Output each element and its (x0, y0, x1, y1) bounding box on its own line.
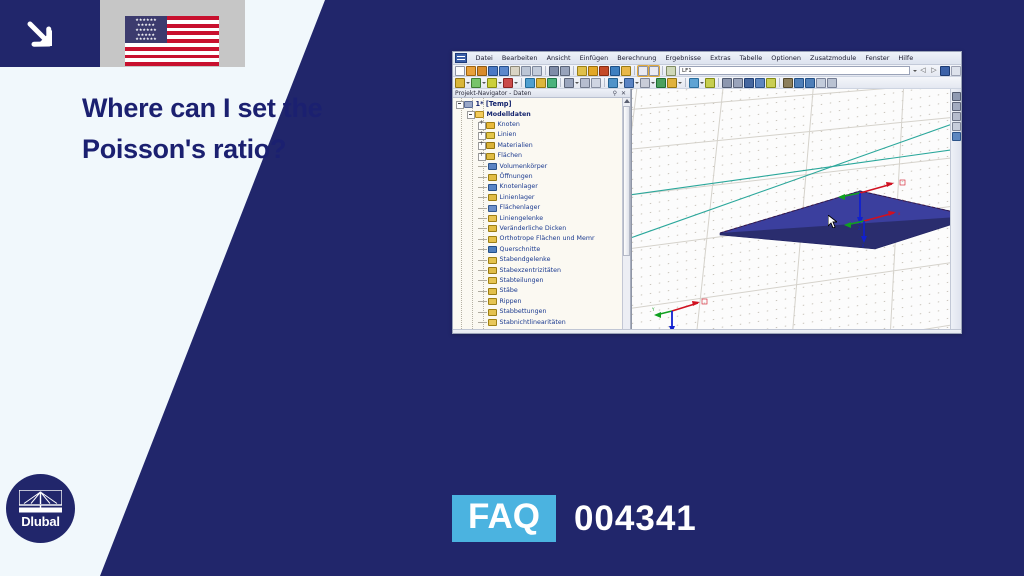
tree-connector (478, 218, 487, 219)
navigator-tree-item[interactable]: Stabexzentrizitäten (453, 265, 630, 275)
line-support-icon (488, 194, 497, 201)
save-icon[interactable] (499, 66, 509, 76)
navigator-tree-item[interactable]: Orthotrope Flächen und Memr (453, 234, 630, 244)
render-mode-icon[interactable] (722, 78, 732, 88)
chevron-down-icon[interactable] (678, 78, 682, 87)
chevron-down-icon[interactable] (514, 78, 518, 87)
navigator-tree-item[interactable]: Veränderliche Dicken (453, 224, 630, 234)
toolbar-separator (634, 66, 635, 75)
member-division-icon (488, 277, 497, 284)
view-top-icon[interactable] (952, 112, 961, 121)
navigator-tree-item[interactable]: Flächen (453, 151, 630, 161)
status-bar (453, 329, 961, 334)
navigator-tree-item-label: Volumenkörper (500, 162, 548, 172)
tree-connector (478, 197, 487, 198)
render-icon[interactable] (610, 66, 620, 76)
arrow-down-right-icon (24, 18, 58, 52)
faq-badge: FAQ 004341 (452, 495, 697, 542)
menu-bar: Datei Bearbeiten Ansicht Einfügen Berech… (453, 52, 961, 65)
navigator-tree-item[interactable]: Querschnitte (453, 245, 630, 255)
toolbar-separator (545, 66, 546, 75)
window-cascade-icon[interactable] (827, 78, 837, 88)
navigator-tree-item-label: Rippen (500, 297, 522, 307)
navigator-tree-item-label: Flächenlager (500, 203, 541, 213)
surface-table-icon (486, 153, 495, 160)
line-table-icon (486, 132, 495, 139)
navigator-tree-item[interactable]: Knoten (453, 120, 630, 130)
language-flag-block[interactable]: ★★★★★★ ★★★★★ ★★★★★★ ★★★★★ ★★★★★★ (100, 0, 245, 67)
navigator-tree-item[interactable]: Öffnungen (453, 172, 630, 182)
page-title-line-1: Where can I set the (82, 88, 412, 129)
toolbar-separator (521, 78, 522, 87)
tree-connector (478, 260, 487, 261)
print-preview-icon[interactable] (521, 66, 531, 76)
toolbar-separator (573, 66, 574, 75)
navigator-tree-item-label: Linien (498, 130, 517, 140)
navigator-tree-item[interactable]: Materialien (453, 141, 630, 151)
window-split-icon[interactable] (649, 66, 659, 76)
scroll-up-arrow-icon[interactable] (624, 99, 630, 103)
line-hinge-icon (488, 215, 497, 222)
toolbar-separator (779, 78, 780, 87)
new-document-icon[interactable] (455, 66, 465, 76)
menu-item-ansicht[interactable]: Ansicht (542, 54, 575, 62)
navigator-tree-item-label: Stabexzentrizitäten (500, 266, 562, 276)
navigator-tree-item-label: Orthotrope Flächen und Memr (500, 234, 595, 244)
navigator-tree-item-label: Querschnitte (500, 245, 541, 255)
tree-connector (478, 280, 487, 281)
toolbar-separator (718, 78, 719, 87)
page-title: Where can I set the Poisson's ratio? (82, 88, 412, 170)
tree-connector (478, 249, 487, 250)
tree-connector (478, 177, 487, 178)
navigator-tree-item-label: Materialien (498, 141, 533, 151)
nodal-load-icon[interactable] (564, 78, 574, 88)
tree-connector (478, 187, 487, 188)
node-icon[interactable] (455, 78, 465, 88)
support-icon[interactable] (525, 78, 535, 88)
print-detail-icon[interactable] (532, 66, 542, 76)
chevron-down-icon[interactable] (575, 78, 579, 87)
toolbar-separator (685, 78, 686, 87)
us-flag-icon: ★★★★★★ ★★★★★ ★★★★★★ ★★★★★ ★★★★★★ (125, 16, 219, 66)
table-view-icon[interactable] (638, 66, 648, 76)
corner-accent-block (0, 0, 100, 67)
navigator-tree-item-label: Knotenlager (500, 182, 538, 192)
faq-number: 004341 (574, 500, 697, 538)
expand-plus-icon[interactable] (478, 153, 485, 160)
tree-connector (478, 239, 487, 240)
navigator-tree-item[interactable]: Linienlager (453, 193, 630, 203)
pan-icon[interactable] (755, 78, 765, 88)
calculate-icon[interactable] (640, 78, 650, 88)
zoom-out-view-icon[interactable] (805, 78, 815, 88)
tree-connector (478, 228, 487, 229)
navigator-tree-item[interactable]: Knotenlager (453, 182, 630, 192)
zoom-out-icon[interactable] (744, 78, 754, 88)
nodal-support-icon (488, 184, 497, 191)
truss-bridge-icon (19, 490, 62, 514)
cross-section-icon (488, 246, 497, 253)
zoom-fit-icon[interactable] (599, 66, 609, 76)
filter-icon[interactable] (705, 78, 715, 88)
menu-item-zusatzmodule[interactable]: Zusatzmodule (806, 54, 861, 62)
navigator-tree-item[interactable]: Rippen (453, 297, 630, 307)
svg-text:z: z (862, 243, 864, 248)
opening-table-icon (488, 174, 497, 181)
menu-item-fenster[interactable]: Fenster (861, 54, 894, 62)
chevron-down-icon[interactable] (466, 78, 470, 87)
print-results-icon[interactable] (940, 66, 950, 76)
print-setup-icon[interactable] (488, 66, 498, 76)
menu-item-berechnung[interactable]: Berechnung (613, 54, 661, 62)
navigator-tree-item-label: Stabnichtlinearitäten (500, 318, 566, 328)
work-area: Projekt-Navigator - Daten ⚲ ✕ 1* [Temp]M… (453, 89, 961, 334)
chevron-down-icon[interactable] (482, 78, 486, 87)
project-icon (464, 101, 473, 108)
collapse-minus-icon[interactable] (456, 101, 463, 108)
help-pointer-icon[interactable] (951, 66, 961, 76)
navigator-tree-item-label: Liniengelenke (500, 214, 544, 224)
measure-icon[interactable] (577, 66, 587, 76)
navigator-tree-item[interactable]: Stabendgelenke (453, 255, 630, 265)
navigator-title: Projekt-Navigator - Daten (455, 90, 611, 97)
expand-plus-icon[interactable] (478, 142, 485, 149)
toolbar-separator (560, 78, 561, 87)
tree-connector (478, 166, 487, 167)
print-icon[interactable] (510, 66, 520, 76)
undo-icon[interactable] (549, 66, 559, 76)
zoom-all-icon[interactable] (952, 132, 961, 141)
member-nonlinearity-icon (488, 319, 497, 326)
navigator-tree-item-label: Stabendgelenke (500, 255, 551, 265)
navigator-tree-item-label: Linienlager (500, 193, 535, 203)
menu-item-tabelle[interactable]: Tabelle (735, 54, 767, 62)
navigator-tree-item-label: Stabbettungen (500, 307, 547, 317)
free-load-icon[interactable] (608, 78, 618, 88)
chevron-down-icon[interactable] (913, 66, 917, 75)
view-front-icon[interactable] (952, 102, 961, 111)
load-case-icon[interactable] (666, 66, 676, 76)
material-table-icon (486, 142, 495, 149)
menu-item-bearbeiten[interactable]: Bearbeiten (497, 54, 542, 62)
dlubal-logo[interactable]: Dlubal (6, 474, 75, 543)
page-title-line-2: Poisson's ratio? (82, 129, 412, 170)
faq-tag-label: FAQ (452, 495, 556, 542)
chevron-down-icon[interactable] (619, 78, 623, 87)
logo-text: Dlubal (6, 514, 75, 529)
tree-connector (478, 208, 487, 209)
chevron-down-icon[interactable] (651, 78, 655, 87)
mouse-pointer-icon (828, 215, 837, 228)
expand-plus-icon[interactable] (478, 122, 485, 129)
result-icon[interactable] (656, 78, 666, 88)
navigator-tree-item[interactable]: 1* [Temp] (453, 99, 630, 109)
navigator-tree-item-label: Modelldaten (487, 110, 531, 120)
deformation-icon[interactable] (667, 78, 677, 88)
navigator-tree-item-label: 1* [Temp] (476, 99, 512, 109)
slide: ★★★★★★ ★★★★★ ★★★★★★ ★★★★★ ★★★★★★ Where c… (0, 0, 1024, 576)
select-icon[interactable] (783, 78, 793, 88)
line-load-icon[interactable] (580, 78, 590, 88)
menu-item-hilfe[interactable]: Hilfe (894, 54, 918, 62)
toolbar-separator (604, 78, 605, 87)
expand-plus-icon[interactable] (478, 132, 485, 139)
tree-connector (478, 291, 487, 292)
scrollbar-thumb[interactable] (623, 106, 630, 256)
solid-icon[interactable] (536, 78, 546, 88)
navigator-tree-item[interactable]: Modelldaten (453, 110, 630, 120)
close-icon[interactable]: ✕ (619, 90, 628, 97)
menu-item-einfuegen[interactable]: Einfügen (575, 54, 613, 62)
section-icon[interactable] (689, 78, 699, 88)
next-arrow-icon[interactable]: ▷ (929, 66, 939, 76)
solid-table-icon (488, 163, 497, 170)
chevron-down-icon[interactable] (635, 78, 639, 87)
navigator-tree[interactable]: 1* [Temp]ModelldatenKnotenLinienMaterial… (453, 98, 630, 334)
folder-open-icon (475, 111, 484, 118)
tree-connector (478, 301, 487, 302)
navigator-tree-item-label: Knoten (498, 120, 520, 130)
open-project-icon[interactable] (621, 66, 631, 76)
member-icon[interactable] (487, 78, 497, 88)
navigator-tree-item[interactable]: Volumenkörper (453, 161, 630, 171)
chevron-down-icon[interactable] (498, 78, 502, 87)
toolbar-row-2 (453, 77, 961, 89)
member-hinge-icon (488, 257, 497, 264)
orthotropic-icon (488, 236, 497, 243)
window-tile-icon[interactable] (816, 78, 826, 88)
menu-item-optionen[interactable]: Optionen (767, 54, 806, 62)
viewport-geometry: Z x z (632, 89, 961, 334)
load-case-input[interactable]: LF1 (679, 66, 910, 75)
model-viewport[interactable]: Z x z (631, 89, 961, 334)
pin-icon[interactable]: ⚲ (611, 90, 619, 97)
toolbar-row-1: LF1 ◁ ▷ (453, 65, 961, 77)
navigator-tree-item-label: Öffnungen (500, 172, 533, 182)
member-elastic-foundation-icon (488, 309, 497, 316)
zoom-in-icon[interactable] (588, 66, 598, 76)
navigator-tree-item[interactable]: Stäbe (453, 286, 630, 296)
member-eccentricity-icon (488, 267, 497, 274)
navigator-tree-item-label: Veränderliche Dicken (500, 224, 567, 234)
navigator-tree-item-label: Flächen (498, 151, 523, 161)
load-icon[interactable] (547, 78, 557, 88)
surface-support-icon (488, 205, 497, 212)
node-table-icon (486, 122, 495, 129)
save-as-icon[interactable] (477, 66, 487, 76)
rfem-app-icon (455, 53, 467, 63)
menu-item-ergebnisse[interactable]: Ergebnisse (661, 54, 706, 62)
navigator-tree-item[interactable]: Linien (453, 130, 630, 140)
navigator-title-bar: Projekt-Navigator - Daten ⚲ ✕ (453, 89, 630, 98)
rib-icon (488, 298, 497, 305)
open-folder-icon[interactable] (466, 66, 476, 76)
tree-connector (478, 270, 487, 271)
surface-icon[interactable] (503, 78, 513, 88)
prev-arrow-icon[interactable]: ◁ (918, 66, 928, 76)
navigator-tree-item-label: Stabteilungen (500, 276, 544, 286)
variable-thickness-icon (488, 225, 497, 232)
project-navigator-panel: Projekt-Navigator - Daten ⚲ ✕ 1* [Temp]M… (453, 89, 631, 334)
navigator-tree-item[interactable]: Liniengelenke (453, 213, 630, 223)
view-side-icon[interactable] (952, 122, 961, 131)
line-icon[interactable] (471, 78, 481, 88)
navigator-tree-item[interactable]: Stabnichtlinearitäten (453, 317, 630, 327)
chevron-down-icon[interactable] (700, 78, 704, 87)
navigator-tree-item[interactable]: Stabbettungen (453, 307, 630, 317)
tree-connector (478, 312, 487, 313)
member-table-icon (488, 288, 497, 295)
navigator-tree-item[interactable]: Stabteilungen (453, 276, 630, 286)
rotate-icon[interactable] (766, 78, 776, 88)
navigator-scrollbar[interactable] (622, 98, 630, 334)
collapse-minus-icon[interactable] (467, 111, 474, 118)
menu-item-datei[interactable]: Datei (471, 54, 497, 62)
svg-text:Y: Y (651, 307, 655, 312)
surface-load-icon[interactable] (591, 78, 601, 88)
mesh-icon[interactable] (624, 78, 634, 88)
tree-connector (478, 322, 487, 323)
menu-item-extras[interactable]: Extras (706, 54, 736, 62)
svg-text:Z: Z (858, 226, 861, 231)
zoom-window-icon[interactable] (733, 78, 743, 88)
zoom-in-view-icon[interactable] (794, 78, 804, 88)
toolbar-separator (662, 66, 663, 75)
right-vertical-toolbar (950, 89, 961, 334)
view-isometric-icon[interactable] (952, 92, 961, 101)
navigator-tree-item-label: Stäbe (500, 286, 518, 296)
navigator-tree-item[interactable]: Flächenlager (453, 203, 630, 213)
rfem-application-screenshot: Datei Bearbeiten Ansicht Einfügen Berech… (452, 51, 962, 334)
redo-icon[interactable] (560, 66, 570, 76)
